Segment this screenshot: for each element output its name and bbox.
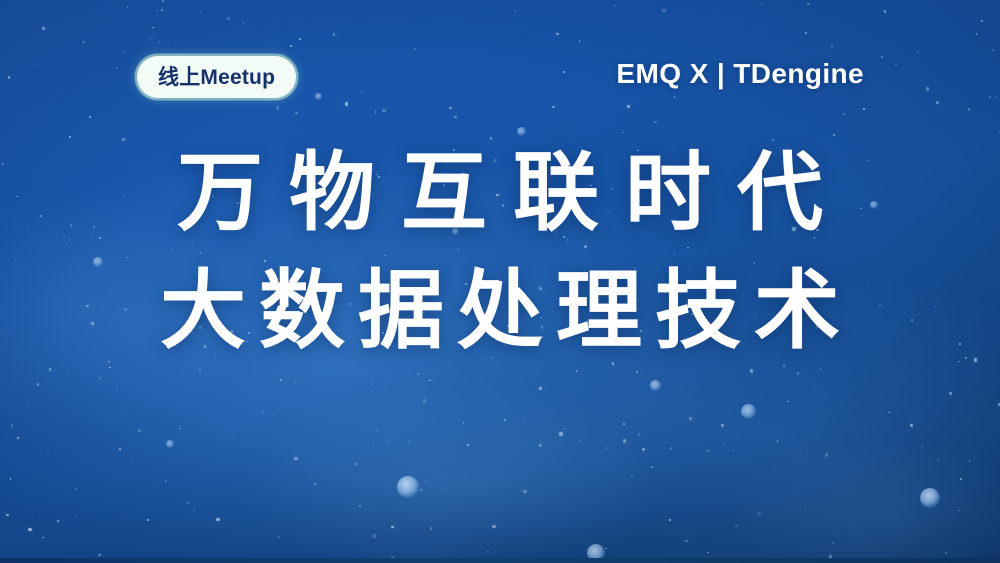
meetup-badge: 线上Meetup <box>137 56 296 98</box>
banner-header: 线上Meetup EMQ X | TDengine <box>0 56 1000 102</box>
meetup-banner: 线上Meetup EMQ X | TDengine 万物互联时代 大数据处理技术 <box>0 0 1000 563</box>
bottom-edge-band <box>0 558 1000 563</box>
headline-block: 万物互联时代 大数据处理技术 <box>0 150 1000 354</box>
meetup-badge-label: 线上Meetup <box>158 67 275 88</box>
brand-lockup: EMQ X | TDengine <box>616 58 864 90</box>
headline-line-1: 万物互联时代 <box>0 150 1000 236</box>
headline-line-2: 大数据处理技术 <box>0 268 1000 354</box>
